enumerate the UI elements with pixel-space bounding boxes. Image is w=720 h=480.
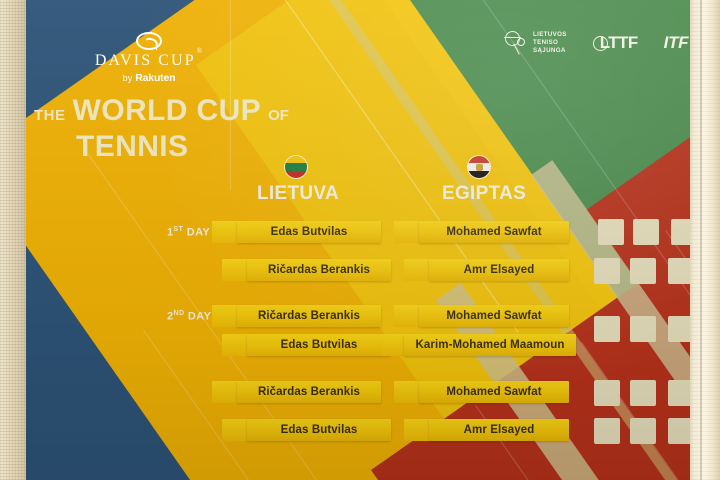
day-ordinal-1: ST bbox=[174, 226, 184, 233]
match-row-home: Ričardas Berankis bbox=[247, 259, 391, 281]
decor-square bbox=[668, 380, 690, 406]
davis-cup-wordmark: DAVIS CUP® bbox=[84, 53, 214, 69]
decor-square bbox=[668, 316, 690, 342]
lts-logo-text: LIETUVOS TENISO SĄJUNGA bbox=[533, 31, 567, 56]
decor-square bbox=[594, 418, 620, 444]
wall-right-edge bbox=[688, 0, 720, 480]
player-name-away: Karim-Mohamed Maamoun bbox=[415, 339, 564, 351]
decor-square bbox=[668, 258, 690, 284]
egypt-flag-icon bbox=[467, 155, 491, 179]
team-egiptas: EGIPTAS bbox=[442, 155, 526, 205]
player-name-home: Edas Butvilas bbox=[271, 226, 348, 238]
player-name-away: Amr Elsayed bbox=[464, 424, 535, 436]
lithuania-flag-icon bbox=[284, 155, 308, 179]
davis-cup-wordmark-text: DAVIS CUP bbox=[95, 52, 196, 69]
davis-cup-logo: DAVIS CUP® by Rakuten bbox=[84, 32, 214, 84]
match-row-home: Edas Butvilas bbox=[237, 221, 381, 243]
match-schedule-board: DAVIS CUP® by Rakuten THE WORLD CUP OF T… bbox=[26, 0, 690, 480]
player-name-home: Edas Butvilas bbox=[281, 339, 358, 351]
davis-cup-by-rakuten: by Rakuten bbox=[84, 72, 214, 84]
lttf-logo: LTTF bbox=[593, 33, 638, 53]
day-label-1st: 1ST DAY bbox=[167, 226, 210, 239]
decor-square bbox=[594, 380, 620, 406]
rakuten-wordmark: Rakuten bbox=[135, 72, 175, 84]
partner-logo-row: LIETUVOS TENISO SĄJUNGA LTTF ITF bbox=[504, 30, 690, 56]
headline-of: OF bbox=[268, 107, 289, 124]
player-name-away: Mohamed Sawfat bbox=[446, 310, 541, 322]
match-row-away: Mohamed Sawfat bbox=[419, 221, 569, 243]
lttf-wordmark: LTTF bbox=[600, 33, 638, 53]
lts-line-2: TENISO bbox=[533, 39, 567, 47]
lts-line-3: SĄJUNGA bbox=[533, 47, 567, 55]
decor-square bbox=[633, 219, 659, 245]
headline: THE WORLD CUP OF TENNIS bbox=[30, 96, 330, 162]
match-row-home: Ričardas Berankis bbox=[237, 305, 381, 327]
decor-square bbox=[630, 380, 656, 406]
tennis-racket-icon bbox=[504, 30, 528, 56]
wall-left-edge bbox=[0, 0, 28, 480]
player-name-home: Edas Butvilas bbox=[281, 424, 358, 436]
davis-cup-match-board-photo: DAVIS CUP® by Rakuten THE WORLD CUP OF T… bbox=[0, 0, 720, 480]
player-name-away: Mohamed Sawfat bbox=[446, 226, 541, 238]
day-suffix-1: DAY bbox=[187, 227, 210, 239]
match-row-away: Mohamed Sawfat bbox=[419, 381, 569, 403]
day-suffix-2: DAY bbox=[188, 311, 211, 323]
lietuvos-teniso-sajunga-logo: LIETUVOS TENISO SĄJUNGA bbox=[504, 30, 567, 56]
match-row-home: Edas Butvilas bbox=[247, 334, 391, 356]
decor-square bbox=[630, 316, 656, 342]
headline-the: THE bbox=[34, 107, 66, 124]
match-row-away: Karim-Mohamed Maamoun bbox=[404, 334, 576, 356]
trademark-symbol: ® bbox=[197, 47, 204, 55]
davis-cup-oval-icon bbox=[136, 32, 162, 50]
decor-square bbox=[594, 258, 620, 284]
itf-wordmark: ITF bbox=[664, 33, 689, 53]
player-name-away: Amr Elsayed bbox=[464, 264, 535, 276]
headline-world-cup: WORLD CUP bbox=[73, 96, 262, 126]
by-label: by bbox=[123, 73, 133, 83]
team-lietuva-name: LIETUVA bbox=[257, 183, 339, 205]
wall-seam-line bbox=[700, 0, 702, 480]
itf-logo: ITF bbox=[664, 33, 690, 53]
player-name-away: Mohamed Sawfat bbox=[446, 386, 541, 398]
decor-square bbox=[671, 219, 690, 245]
team-lietuva: LIETUVA bbox=[257, 155, 339, 205]
day-label-2nd: 2ND DAY bbox=[167, 310, 211, 323]
decor-square bbox=[630, 418, 656, 444]
lts-line-1: LIETUVOS bbox=[533, 31, 567, 39]
egypt-eagle-emblem bbox=[476, 164, 483, 171]
decor-square bbox=[668, 418, 690, 444]
match-row-home: Edas Butvilas bbox=[247, 419, 391, 441]
match-row-away: Amr Elsayed bbox=[429, 259, 569, 281]
decor-square bbox=[630, 258, 656, 284]
team-egiptas-name: EGIPTAS bbox=[442, 183, 526, 205]
decor-square bbox=[594, 316, 620, 342]
player-name-home: Ričardas Berankis bbox=[268, 264, 370, 276]
match-row-away: Amr Elsayed bbox=[429, 419, 569, 441]
match-row-away: Mohamed Sawfat bbox=[419, 305, 569, 327]
player-name-home: Ričardas Berankis bbox=[258, 386, 360, 398]
decor-square bbox=[598, 219, 624, 245]
player-name-home: Ričardas Berankis bbox=[258, 310, 360, 322]
day-ordinal-2: ND bbox=[174, 310, 185, 317]
match-row-home: Ričardas Berankis bbox=[237, 381, 381, 403]
